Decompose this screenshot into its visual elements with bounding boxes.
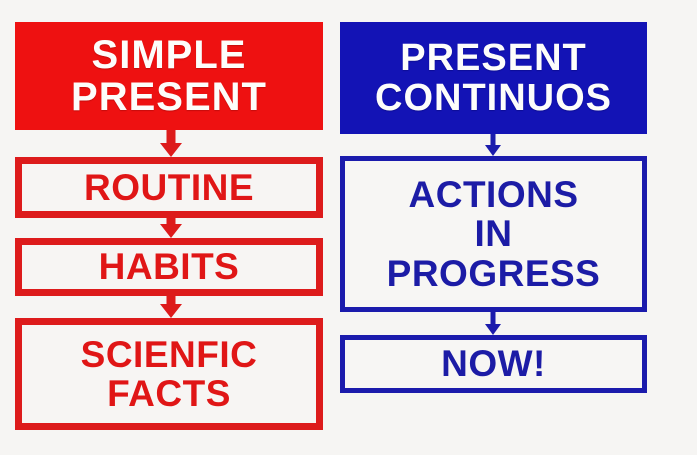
node-habits[interactable]: HABITS	[15, 238, 323, 296]
arrow-actions-to-now	[484, 312, 502, 335]
node-actions-in-progress[interactable]: ACTIONS IN PROGRESS	[340, 156, 647, 312]
arrow-head	[160, 224, 182, 238]
arrow-head	[485, 145, 501, 156]
arrow-header-to-actions	[484, 134, 502, 156]
arrow-header-to-routine	[160, 130, 182, 157]
grammar-comparison-diagram: SIMPLE PRESENT ROUTINE HABITS SCIENFIC F…	[0, 0, 697, 455]
arrow-head	[160, 304, 182, 318]
arrow-habits-to-facts	[160, 296, 182, 318]
present-continuos-header-box[interactable]: PRESENT CONTINUOS	[340, 22, 647, 134]
simple-present-header-box[interactable]: SIMPLE PRESENT	[15, 22, 323, 130]
node-now[interactable]: NOW!	[340, 335, 647, 393]
node-routine[interactable]: ROUTINE	[15, 157, 323, 218]
arrow-head	[160, 143, 182, 157]
arrow-routine-to-habits	[160, 218, 182, 238]
arrow-head	[485, 324, 501, 335]
node-scienfic-facts[interactable]: SCIENFIC FACTS	[15, 318, 323, 430]
